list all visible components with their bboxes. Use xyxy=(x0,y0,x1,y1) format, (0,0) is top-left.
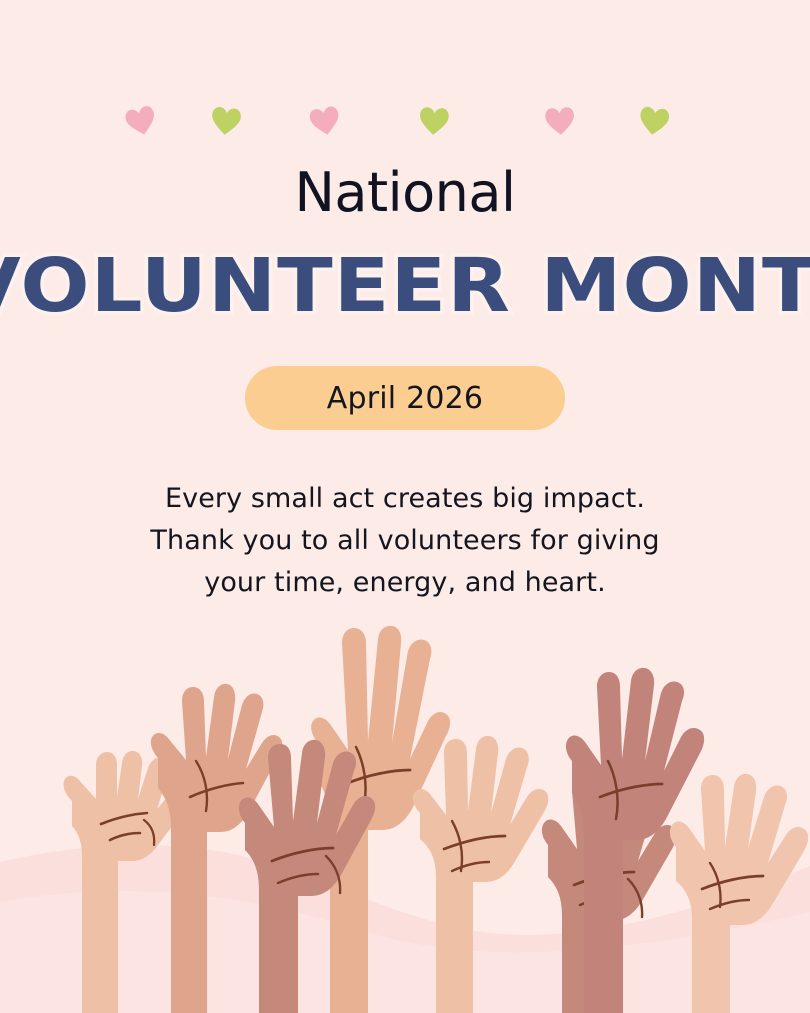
heart-glyph xyxy=(416,103,452,139)
hand-8 xyxy=(670,774,808,1013)
heart-icon-4 xyxy=(416,103,452,139)
heart-icon-6 xyxy=(635,102,673,140)
date-badge-label: April 2026 xyxy=(327,381,483,416)
message-line-2: Thank you to all volunteers for giving xyxy=(0,520,810,562)
message-line-1: Every small act creates big impact. xyxy=(0,478,810,520)
hearts-decoration-row xyxy=(0,100,810,156)
poster-canvas: National VOLUNTEER MONTH April 2026 Ever… xyxy=(0,0,810,1013)
heart-glyph xyxy=(305,101,344,140)
heart-glyph xyxy=(542,103,578,139)
heart-icon-5 xyxy=(542,103,578,139)
message-line-3: your time, energy, and heart. xyxy=(0,562,810,604)
heart-glyph xyxy=(635,102,673,140)
date-badge: April 2026 xyxy=(245,366,565,430)
raised-hands-svg xyxy=(0,613,810,1013)
raised-hands-illustration xyxy=(0,613,810,1013)
page-eyebrow-title: National xyxy=(0,166,810,220)
heart-glyph xyxy=(207,102,244,139)
page-title: VOLUNTEER MONTH xyxy=(0,243,810,329)
heart-icon-3 xyxy=(305,101,344,140)
hand-5 xyxy=(413,736,548,1013)
heart-glyph xyxy=(120,100,161,141)
heart-icon-2 xyxy=(207,102,244,139)
page-title-text: VOLUNTEER MONTH xyxy=(0,243,810,329)
message-block: Every small act creates big impact. Than… xyxy=(0,478,810,604)
heart-icon-1 xyxy=(120,100,161,141)
